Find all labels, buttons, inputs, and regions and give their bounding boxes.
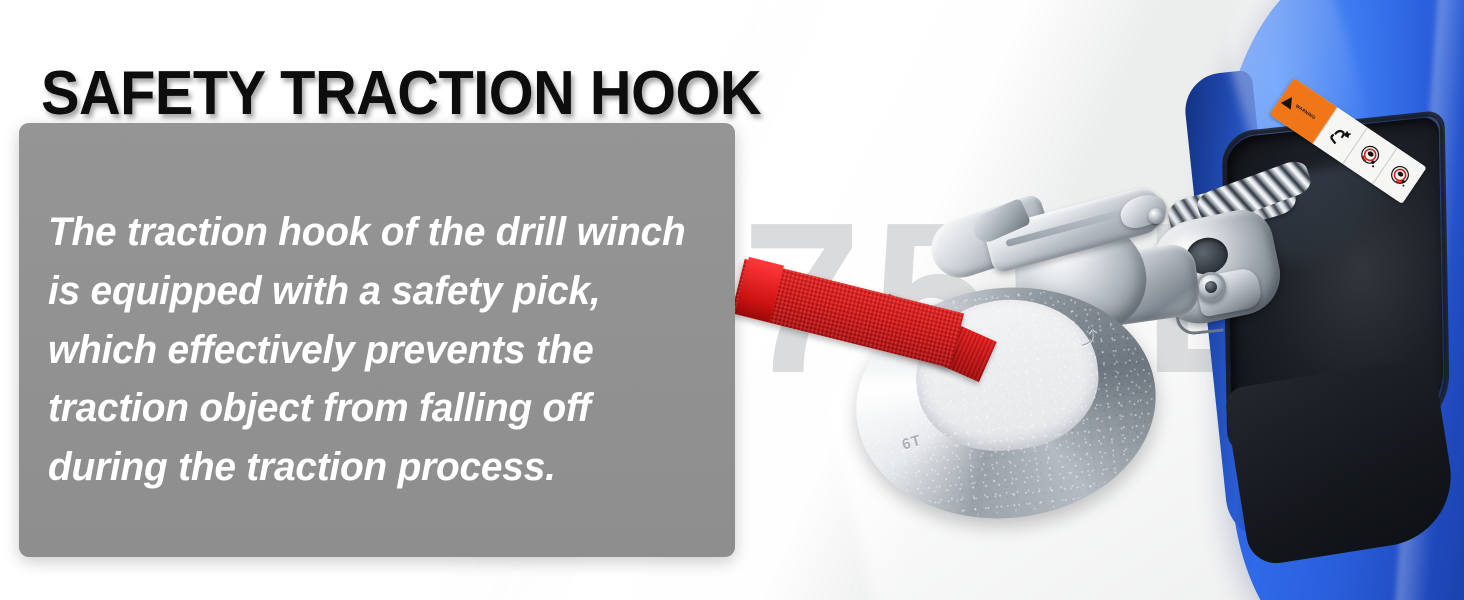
safety-latch-pivot [1148, 208, 1164, 224]
description-text: The traction hook of the drill winch is … [48, 203, 700, 497]
warning-label: WARNING [1295, 104, 1317, 121]
clevis-pin-head [1196, 272, 1226, 302]
hook-embossed-arrow: ⤴ [1078, 320, 1112, 353]
product-feature-banner: 75LB WARNING [0, 0, 1464, 600]
page-title: SAFETY TRACTION HOOK [41, 63, 761, 125]
hand-entanglement-icon [1325, 120, 1356, 151]
